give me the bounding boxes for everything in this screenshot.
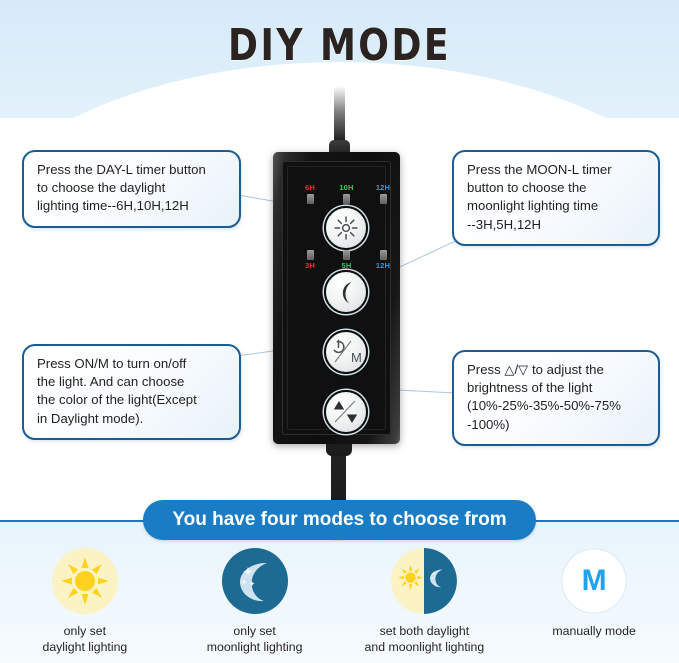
callout-day-timer-line-3: lighting time--6H,10H,12H bbox=[37, 197, 228, 215]
led-indicator-3h: 3H bbox=[297, 248, 323, 270]
power-m-letter: M bbox=[351, 350, 362, 365]
led-row-moonlight: 3H 5H 12H bbox=[297, 248, 396, 270]
callout-moon-timer-line-3: moonlight lighting time bbox=[467, 197, 647, 215]
mode-manual-label: manually mode bbox=[552, 623, 635, 639]
callout-moon-timer-line-1: Press the MOON-L timer bbox=[467, 161, 647, 179]
led-dot-3h bbox=[307, 250, 314, 260]
up-down-arrow-icon bbox=[329, 398, 363, 426]
callout-brightness-line-3: (10%-25%-35%-50%-75% bbox=[467, 397, 647, 415]
callout-moon-timer: Press the MOON-L timer button to choose … bbox=[452, 150, 660, 246]
led-dot-6h bbox=[307, 194, 314, 204]
on-m-power-button[interactable]: M bbox=[324, 330, 368, 374]
callout-brightness: Press △/▽ to adjust the brightness of th… bbox=[452, 350, 660, 446]
led-label-6h: 6H bbox=[305, 184, 315, 192]
modes-row: only set daylight lighting only set moon… bbox=[0, 548, 679, 655]
led-controller-device: 6H 10H 12H bbox=[273, 152, 400, 444]
arrow-up-icon bbox=[334, 401, 344, 410]
callout-brightness-line-2: brightness of the light bbox=[467, 379, 647, 397]
led-dot-12h-moon bbox=[380, 250, 387, 260]
callout-moon-timer-line-2: button to choose the bbox=[467, 179, 647, 197]
callout-on-m-line-3: the color of the light(Except bbox=[37, 391, 228, 409]
modes-banner: You have four modes to choose from bbox=[143, 500, 536, 540]
sun-icon bbox=[333, 215, 359, 241]
mode-moonlight: only set moonlight lighting bbox=[170, 548, 340, 655]
mode-both-label: set both daylight and moonlight lighting bbox=[365, 623, 485, 655]
brightness-button[interactable] bbox=[324, 390, 368, 434]
letter-m-circle-icon: M bbox=[561, 548, 627, 614]
callout-day-timer-line-2: to choose the daylight bbox=[37, 179, 228, 197]
infographic-page: DIY MODE 6H 10H 12H bbox=[0, 0, 679, 663]
mode-manual: M manually mode bbox=[509, 548, 679, 655]
led-label-12h-day: 12H bbox=[376, 184, 390, 192]
mode-moonlight-label: only set moonlight lighting bbox=[207, 623, 303, 655]
mode-daylight: only set daylight lighting bbox=[0, 548, 170, 655]
manual-m-letter: M bbox=[582, 564, 607, 598]
led-indicator-6h: 6H bbox=[297, 184, 323, 206]
led-indicator-12h-moon: 12H bbox=[370, 248, 396, 270]
callout-moon-timer-line-4: --3H,5H,12H bbox=[467, 216, 647, 234]
controller-faceplate: 6H 10H 12H bbox=[282, 161, 391, 435]
led-label-12h-moon: 12H bbox=[376, 262, 390, 270]
callout-on-m-line-1: Press ON/M to turn on/off bbox=[37, 355, 228, 373]
callout-day-timer-line-1: Press the DAY-L timer button bbox=[37, 161, 228, 179]
moon-icon bbox=[333, 279, 359, 305]
sun-glyph bbox=[59, 555, 111, 607]
sun-circle-icon bbox=[52, 548, 118, 614]
callout-on-m-line-4: in Daylight mode). bbox=[37, 410, 228, 428]
callout-brightness-line-4: -100%) bbox=[467, 416, 647, 434]
split-day-night-glyph bbox=[391, 548, 457, 614]
led-dot-12h-day bbox=[380, 194, 387, 204]
callout-on-m: Press ON/M to turn on/off the light. And… bbox=[22, 344, 241, 440]
led-dot-5h bbox=[343, 250, 350, 260]
moon-stars-glyph bbox=[229, 555, 281, 607]
led-indicator-12h-day: 12H bbox=[370, 184, 396, 206]
led-label-5h: 5H bbox=[342, 262, 352, 270]
led-indicator-10h: 10H bbox=[334, 184, 360, 206]
callout-day-timer: Press the DAY-L timer button to choose t… bbox=[22, 150, 241, 228]
sun-moon-split-circle-icon bbox=[391, 548, 457, 614]
moon-stars-circle-icon bbox=[222, 548, 288, 614]
led-indicator-5h: 5H bbox=[334, 248, 360, 270]
arrow-down-icon bbox=[347, 415, 357, 424]
led-dot-10h bbox=[343, 194, 350, 204]
callout-on-m-line-2: the light. And can choose bbox=[37, 373, 228, 391]
page-title: DIY MODE bbox=[61, 20, 618, 71]
moon-l-timer-button[interactable] bbox=[324, 270, 368, 314]
callout-brightness-line-1: Press △/▽ to adjust the bbox=[467, 361, 647, 379]
led-label-3h: 3H bbox=[305, 262, 315, 270]
mode-daylight-label: only set daylight lighting bbox=[42, 623, 127, 655]
led-row-daylight: 6H 10H 12H bbox=[297, 184, 396, 206]
led-label-10h: 10H bbox=[339, 184, 353, 192]
modes-banner-text: You have four modes to choose from bbox=[172, 509, 506, 531]
mode-both: set both daylight and moonlight lighting bbox=[340, 548, 510, 655]
day-l-timer-button[interactable] bbox=[324, 206, 368, 250]
sun-half-glyph bbox=[398, 565, 423, 590]
power-m-icon: M bbox=[329, 338, 363, 366]
